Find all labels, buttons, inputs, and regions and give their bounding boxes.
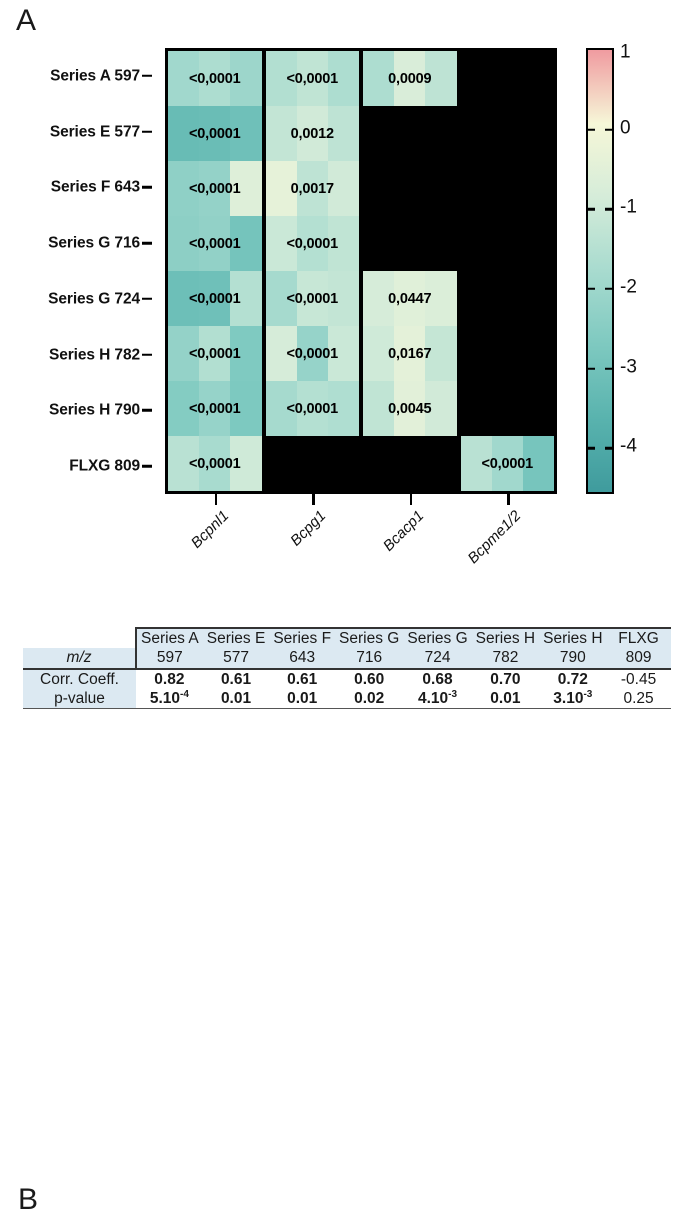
heatmap-cell: 0,0167 [363, 326, 457, 381]
heatmap-x-label-0: Bcpnl1 [188, 508, 231, 551]
heatmap-subcell [363, 51, 394, 106]
heatmap-subcell [328, 51, 359, 106]
heatmap-grid: <0,0001<0,0001<0,0001<0,0001<0,0001<0,00… [165, 48, 557, 494]
table-cell-corr-coeff: 0.61 [203, 669, 270, 689]
heatmap-row-axis: Series A 597Series E 577Series F 643Seri… [0, 48, 152, 494]
table-cell-corr-coeff: 0.72 [539, 669, 606, 689]
table-row-header-names: Series ASeries ESeries FSeries GSeries G… [23, 628, 671, 648]
heatmap-subcell [266, 216, 297, 271]
heatmap-subcell [492, 216, 523, 271]
heatmap-subcell [266, 271, 297, 326]
heatmap-cell: <0,0001 [168, 216, 262, 271]
colorbar-tick-label-1: 0 [620, 118, 631, 137]
heatmap-row-tick-0 [142, 75, 152, 78]
heatmap-column-Bcpg1: <0,00010,00120,0017<0,0001<0,0001<0,0001… [266, 51, 360, 491]
heatmap-subcell [363, 326, 394, 381]
table-col-mz: 782 [472, 648, 539, 668]
heatmap-subcell [461, 216, 492, 271]
heatmap-subcell [297, 271, 328, 326]
heatmap-row-tick-3 [142, 242, 152, 245]
heatmap-subcell [328, 161, 359, 216]
heatmap-cell [363, 216, 457, 271]
heatmap-cell: <0,0001 [266, 381, 360, 436]
heatmap-cell: <0,0001 [168, 106, 262, 161]
colorbar-tick-label-2: -1 [620, 198, 637, 217]
table-cell-p-value: 4.10-3 [403, 689, 471, 709]
heatmap-cell [266, 436, 360, 491]
heatmap-row-label-6: Series H 790 [49, 403, 140, 419]
heatmap-subcell [394, 106, 425, 161]
heatmap-cell [461, 106, 555, 161]
panel-b-stats-table: B Series ASeries ESeries FSeries GSeries… [0, 595, 685, 747]
table-cell-corr-coeff: 0.70 [472, 669, 539, 689]
table-cell-corr-coeff: -0.45 [607, 669, 671, 689]
heatmap-cell: 0,0045 [363, 381, 457, 436]
table-col-name: Series G [335, 628, 403, 648]
heatmap-subcell [328, 381, 359, 436]
heatmap-subcell [394, 381, 425, 436]
heatmap-subcell [230, 326, 261, 381]
table-cell-p-value: 5.10-4 [136, 689, 203, 709]
heatmap-row-tick-4 [142, 298, 152, 301]
heatmap-subcell [492, 436, 523, 491]
table-col-name: Series G [403, 628, 471, 648]
heatmap-row-label-2: Series F 643 [51, 180, 140, 196]
heatmap-x-axis: Bcpnl1Bcpg1Bcacp1Bcpme1/2 [165, 494, 557, 594]
heatmap-row-tick-5 [142, 353, 152, 356]
heatmap-cell: <0,0001 [266, 326, 360, 381]
table-col-name: Series E [203, 628, 270, 648]
colorbar-tick-left-4 [588, 367, 595, 370]
heatmap-subcell [297, 381, 328, 436]
colorbar-tick-right-4 [605, 367, 612, 370]
heatmap-x-tick-2 [410, 494, 413, 505]
table-col-name: Series H [539, 628, 606, 648]
table-row-corr: Corr. Coeff.0.820.610.610.600.680.700.72… [23, 669, 671, 689]
table-col-name: Series A [136, 628, 203, 648]
heatmap-subcell [363, 216, 394, 271]
heatmap-subcell [492, 271, 523, 326]
heatmap-subcell [425, 51, 456, 106]
table-col-name: Series H [472, 628, 539, 648]
stats-table: Series ASeries ESeries FSeries GSeries G… [23, 627, 671, 709]
heatmap-row-label-7: FLXG 809 [69, 458, 140, 474]
heatmap-subcell [168, 216, 199, 271]
colorbar-tick-label-3: -2 [620, 277, 637, 296]
heatmap-subcell [328, 436, 359, 491]
table-cell-corr-coeff: 0.61 [269, 669, 335, 689]
heatmap-cell: <0,0001 [461, 436, 555, 491]
heatmap-cell [461, 326, 555, 381]
table-row-pvalue: p-value5.10-40.010.010.024.10-30.013.10-… [23, 689, 671, 709]
heatmap-subcell [425, 436, 456, 491]
table-cell-p-value: 0.01 [269, 689, 335, 709]
heatmap-subcell [425, 161, 456, 216]
heatmap-subcell [266, 381, 297, 436]
colorbar-gradient [588, 50, 612, 492]
heatmap-subcell [168, 51, 199, 106]
heatmap-subcell [523, 51, 554, 106]
heatmap-subcell [168, 106, 199, 161]
heatmap-row-label-3: Series G 716 [48, 235, 140, 251]
colorbar-bar [586, 48, 614, 494]
heatmap-x-label-2: Bcacp1 [380, 508, 426, 554]
heatmap-subcell [297, 216, 328, 271]
heatmap-subcell [230, 436, 261, 491]
heatmap-subcell [394, 326, 425, 381]
heatmap-x-tick-1 [312, 494, 315, 505]
table-cell-p-value: 0.25 [607, 689, 671, 709]
heatmap-subcell [297, 51, 328, 106]
heatmap-subcell [394, 216, 425, 271]
heatmap-subcell [199, 326, 230, 381]
heatmap-subcell [394, 436, 425, 491]
colorbar-tick-left-5 [588, 447, 595, 450]
heatmap-row-tick-2 [142, 186, 152, 189]
heatmap-row-tick-6 [142, 409, 152, 412]
heatmap-cell: 0,0012 [266, 106, 360, 161]
heatmap-subcell [168, 436, 199, 491]
heatmap-subcell [492, 381, 523, 436]
heatmap-subcell [425, 271, 456, 326]
heatmap-cell [461, 216, 555, 271]
table-cell-p-value: 0.02 [335, 689, 403, 709]
table-row-mz: m/z597577643716724782790809 [23, 648, 671, 668]
heatmap-subcell [425, 106, 456, 161]
heatmap-x-tick-0 [215, 494, 218, 505]
table-row-label-mz: m/z [23, 648, 136, 668]
panel-a-heatmap: A Series A 597Series E 577Series F 643Se… [0, 0, 685, 595]
table-col-mz: 643 [269, 648, 335, 668]
heatmap-subcell [230, 51, 261, 106]
heatmap-subcell [492, 161, 523, 216]
table-col-mz: 577 [203, 648, 270, 668]
colorbar-tick-right-1 [605, 128, 612, 131]
colorbar-tick-left-3 [588, 288, 595, 291]
heatmap-subcell [199, 106, 230, 161]
heatmap-subcell [168, 326, 199, 381]
colorbar-tick-label-4: -3 [620, 357, 637, 376]
heatmap-cell: <0,0001 [168, 381, 262, 436]
heatmap-subcell [297, 326, 328, 381]
heatmap-subcell [199, 51, 230, 106]
colorbar-tick-label-5: -4 [620, 437, 637, 456]
table-cell-corr-coeff: 0.82 [136, 669, 203, 689]
heatmap-subcell [199, 161, 230, 216]
heatmap-cell [363, 436, 457, 491]
heatmap-x-tick-3 [507, 494, 510, 505]
heatmap-subcell [523, 326, 554, 381]
heatmap-subcell [199, 216, 230, 271]
heatmap-subcell [266, 51, 297, 106]
colorbar-tick-right-2 [605, 208, 612, 211]
heatmap-subcell [523, 436, 554, 491]
heatmap-subcell [394, 161, 425, 216]
heatmap-subcell [461, 326, 492, 381]
heatmap-column-Bcpme12: <0,0001 [461, 51, 555, 491]
heatmap-cell: <0,0001 [168, 51, 262, 106]
table-cell-p-value: 3.10-3 [539, 689, 606, 709]
heatmap-subcell [199, 436, 230, 491]
heatmap-subcell [461, 436, 492, 491]
heatmap-subcell [266, 326, 297, 381]
heatmap-subcell [266, 161, 297, 216]
heatmap-subcell [230, 381, 261, 436]
table-col-mz: 809 [607, 648, 671, 668]
heatmap-subcell [297, 161, 328, 216]
heatmap-cell: 0,0009 [363, 51, 457, 106]
heatmap-subcell [230, 216, 261, 271]
heatmap-subcell [328, 106, 359, 161]
heatmap-subcell [297, 436, 328, 491]
heatmap-subcell [199, 271, 230, 326]
heatmap-cell [363, 161, 457, 216]
table-cell-p-value: 0.01 [203, 689, 270, 709]
table-cell-p-value-exponent: -3 [583, 689, 592, 700]
table-col-mz: 724 [403, 648, 471, 668]
heatmap-column-Bcpnl1: <0,0001<0,0001<0,0001<0,0001<0,0001<0,00… [168, 51, 262, 491]
colorbar: 10-1-2-3-4 [586, 48, 681, 494]
heatmap-subcell [230, 106, 261, 161]
heatmap-subcell [461, 381, 492, 436]
colorbar-tick-right-5 [605, 447, 612, 450]
table-col-mz: 716 [335, 648, 403, 668]
heatmap-subcell [328, 271, 359, 326]
heatmap-subcell [461, 161, 492, 216]
heatmap-subcell [363, 106, 394, 161]
heatmap-cell: <0,0001 [168, 326, 262, 381]
heatmap-cell [461, 271, 555, 326]
colorbar-tick-label-0: 1 [620, 43, 631, 62]
table-col-mz: 597 [136, 648, 203, 668]
heatmap-x-label-3: Bcpme1/2 [465, 508, 523, 566]
heatmap-cell [461, 51, 555, 106]
heatmap-row-tick-1 [142, 130, 152, 133]
heatmap-cell: 0,0447 [363, 271, 457, 326]
heatmap-subcell [523, 381, 554, 436]
heatmap-subcell [425, 381, 456, 436]
heatmap-subcell [523, 216, 554, 271]
heatmap-subcell [523, 271, 554, 326]
table-cell-corr-coeff: 0.60 [335, 669, 403, 689]
heatmap-row-label-5: Series H 782 [49, 347, 140, 363]
heatmap-subcell [363, 381, 394, 436]
heatmap-subcell [168, 271, 199, 326]
heatmap-subcell [492, 326, 523, 381]
colorbar-tick-right-3 [605, 288, 612, 291]
heatmap-row-label-0: Series A 597 [50, 68, 140, 84]
heatmap-subcell [199, 381, 230, 436]
heatmap-row-label-4: Series G 724 [48, 291, 140, 307]
heatmap-subcell [328, 326, 359, 381]
table-cell-p-value: 0.01 [472, 689, 539, 709]
heatmap-subcell [266, 436, 297, 491]
heatmap-cell: <0,0001 [168, 436, 262, 491]
heatmap-subcell [523, 106, 554, 161]
heatmap-subcell [168, 381, 199, 436]
heatmap-subcell [492, 51, 523, 106]
heatmap-cell [363, 106, 457, 161]
heatmap-x-label-1: Bcpg1 [288, 508, 329, 549]
table-col-mz: 790 [539, 648, 606, 668]
heatmap-subcell [394, 271, 425, 326]
table-col-name: Series F [269, 628, 335, 648]
heatmap-cell: <0,0001 [266, 51, 360, 106]
heatmap-subcell [461, 106, 492, 161]
heatmap-cell [461, 381, 555, 436]
table-cell-p-value-exponent: -4 [180, 689, 189, 700]
table-row-label-corr-coeff: Corr. Coeff. [23, 669, 136, 689]
heatmap-subcell [363, 161, 394, 216]
heatmap-cell: <0,0001 [168, 161, 262, 216]
heatmap-subcell [523, 161, 554, 216]
table-col-name: FLXG [607, 628, 671, 648]
heatmap-subcell [461, 271, 492, 326]
heatmap-subcell [230, 271, 261, 326]
heatmap-subcell [492, 106, 523, 161]
heatmap-subcell [230, 161, 261, 216]
colorbar-tick-left-1 [588, 128, 595, 131]
table-row-label-p-value: p-value [23, 689, 136, 709]
heatmap-subcell [394, 51, 425, 106]
heatmap-subcell [328, 216, 359, 271]
heatmap-subcell [266, 106, 297, 161]
heatmap-cell: 0,0017 [266, 161, 360, 216]
heatmap-subcell [425, 216, 456, 271]
table-corner-blank [23, 628, 136, 648]
panel-b-letter: B [18, 1185, 38, 1215]
panel-a-letter: A [16, 6, 36, 36]
heatmap-subcell [168, 161, 199, 216]
heatmap-row-label-1: Series E 577 [50, 124, 140, 140]
colorbar-tick-left-2 [588, 208, 595, 211]
table-cell-corr-coeff: 0.68 [403, 669, 471, 689]
heatmap-subcell [425, 326, 456, 381]
heatmap-cell: <0,0001 [266, 271, 360, 326]
heatmap-subcell [363, 436, 394, 491]
heatmap-cell: <0,0001 [266, 216, 360, 271]
heatmap-cell [461, 161, 555, 216]
heatmap-subcell [297, 106, 328, 161]
table-cell-p-value-exponent: -3 [448, 689, 457, 700]
heatmap-subcell [363, 271, 394, 326]
heatmap-column-Bcacp1: 0,00090,04470,01670,0045 [363, 51, 457, 491]
heatmap-row-tick-7 [142, 465, 152, 468]
heatmap-cell: <0,0001 [168, 271, 262, 326]
heatmap-subcell [461, 51, 492, 106]
